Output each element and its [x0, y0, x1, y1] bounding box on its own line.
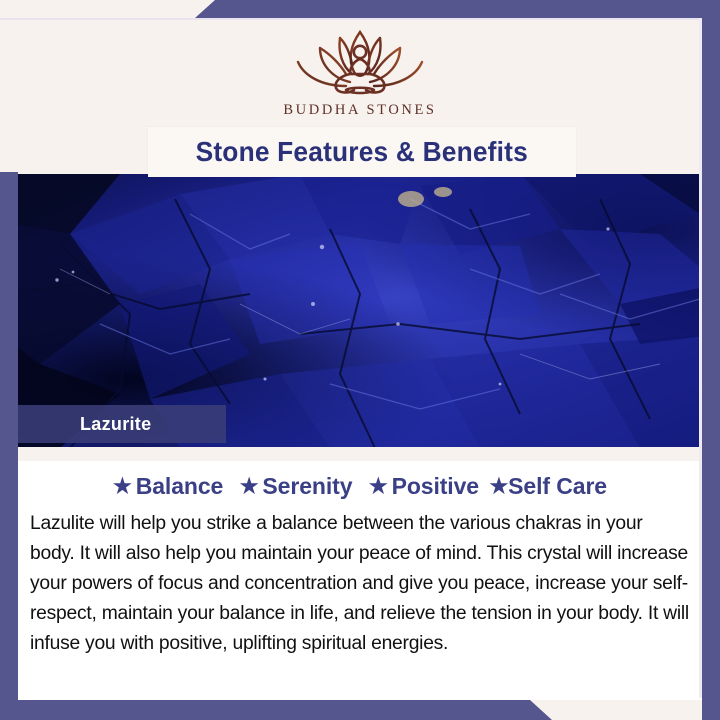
brand-name: BUDDHA STONES [0, 102, 720, 119]
page-title: Stone Features & Benefits [196, 136, 528, 168]
stone-name-text: Lazurite [18, 414, 151, 435]
benefit-label: Self Care [508, 473, 607, 499]
benefit-item-serenity: ★Serenity [240, 473, 353, 500]
card-top-divider [18, 447, 702, 461]
benefit-label: Balance [136, 473, 224, 499]
frame-hairline-top [0, 18, 702, 20]
star-icon: ★ [113, 475, 132, 498]
star-icon: ★ [369, 475, 388, 498]
content-card: ★Balance ★Serenity ★Positive ★Self Care … [18, 447, 702, 700]
benefits-row: ★Balance ★Serenity ★Positive ★Self Care [18, 473, 702, 500]
star-icon: ★ [489, 475, 508, 498]
stone-name-label: Lazurite [18, 405, 226, 443]
frame-bottom-navy [0, 700, 552, 720]
benefit-item-self-care: ★Self Care [489, 473, 607, 500]
benefit-label: Positive [392, 473, 479, 499]
frame-right-navy [702, 18, 720, 720]
lotus-meditation-icon [284, 24, 436, 98]
description-paragraph: Lazulite will help you strike a balance … [30, 509, 690, 659]
frame-top-navy [195, 0, 720, 18]
poster-root: BUDDHA STONES [0, 0, 720, 720]
page-title-banner: Stone Features & Benefits [148, 127, 576, 177]
frame-left-navy [0, 172, 18, 720]
benefit-item-positive: ★Positive [369, 473, 479, 500]
benefit-item-balance: ★Balance [113, 473, 223, 500]
star-icon: ★ [240, 475, 259, 498]
benefit-label: Serenity [262, 473, 352, 499]
brand-logo: BUDDHA STONES [0, 24, 720, 119]
